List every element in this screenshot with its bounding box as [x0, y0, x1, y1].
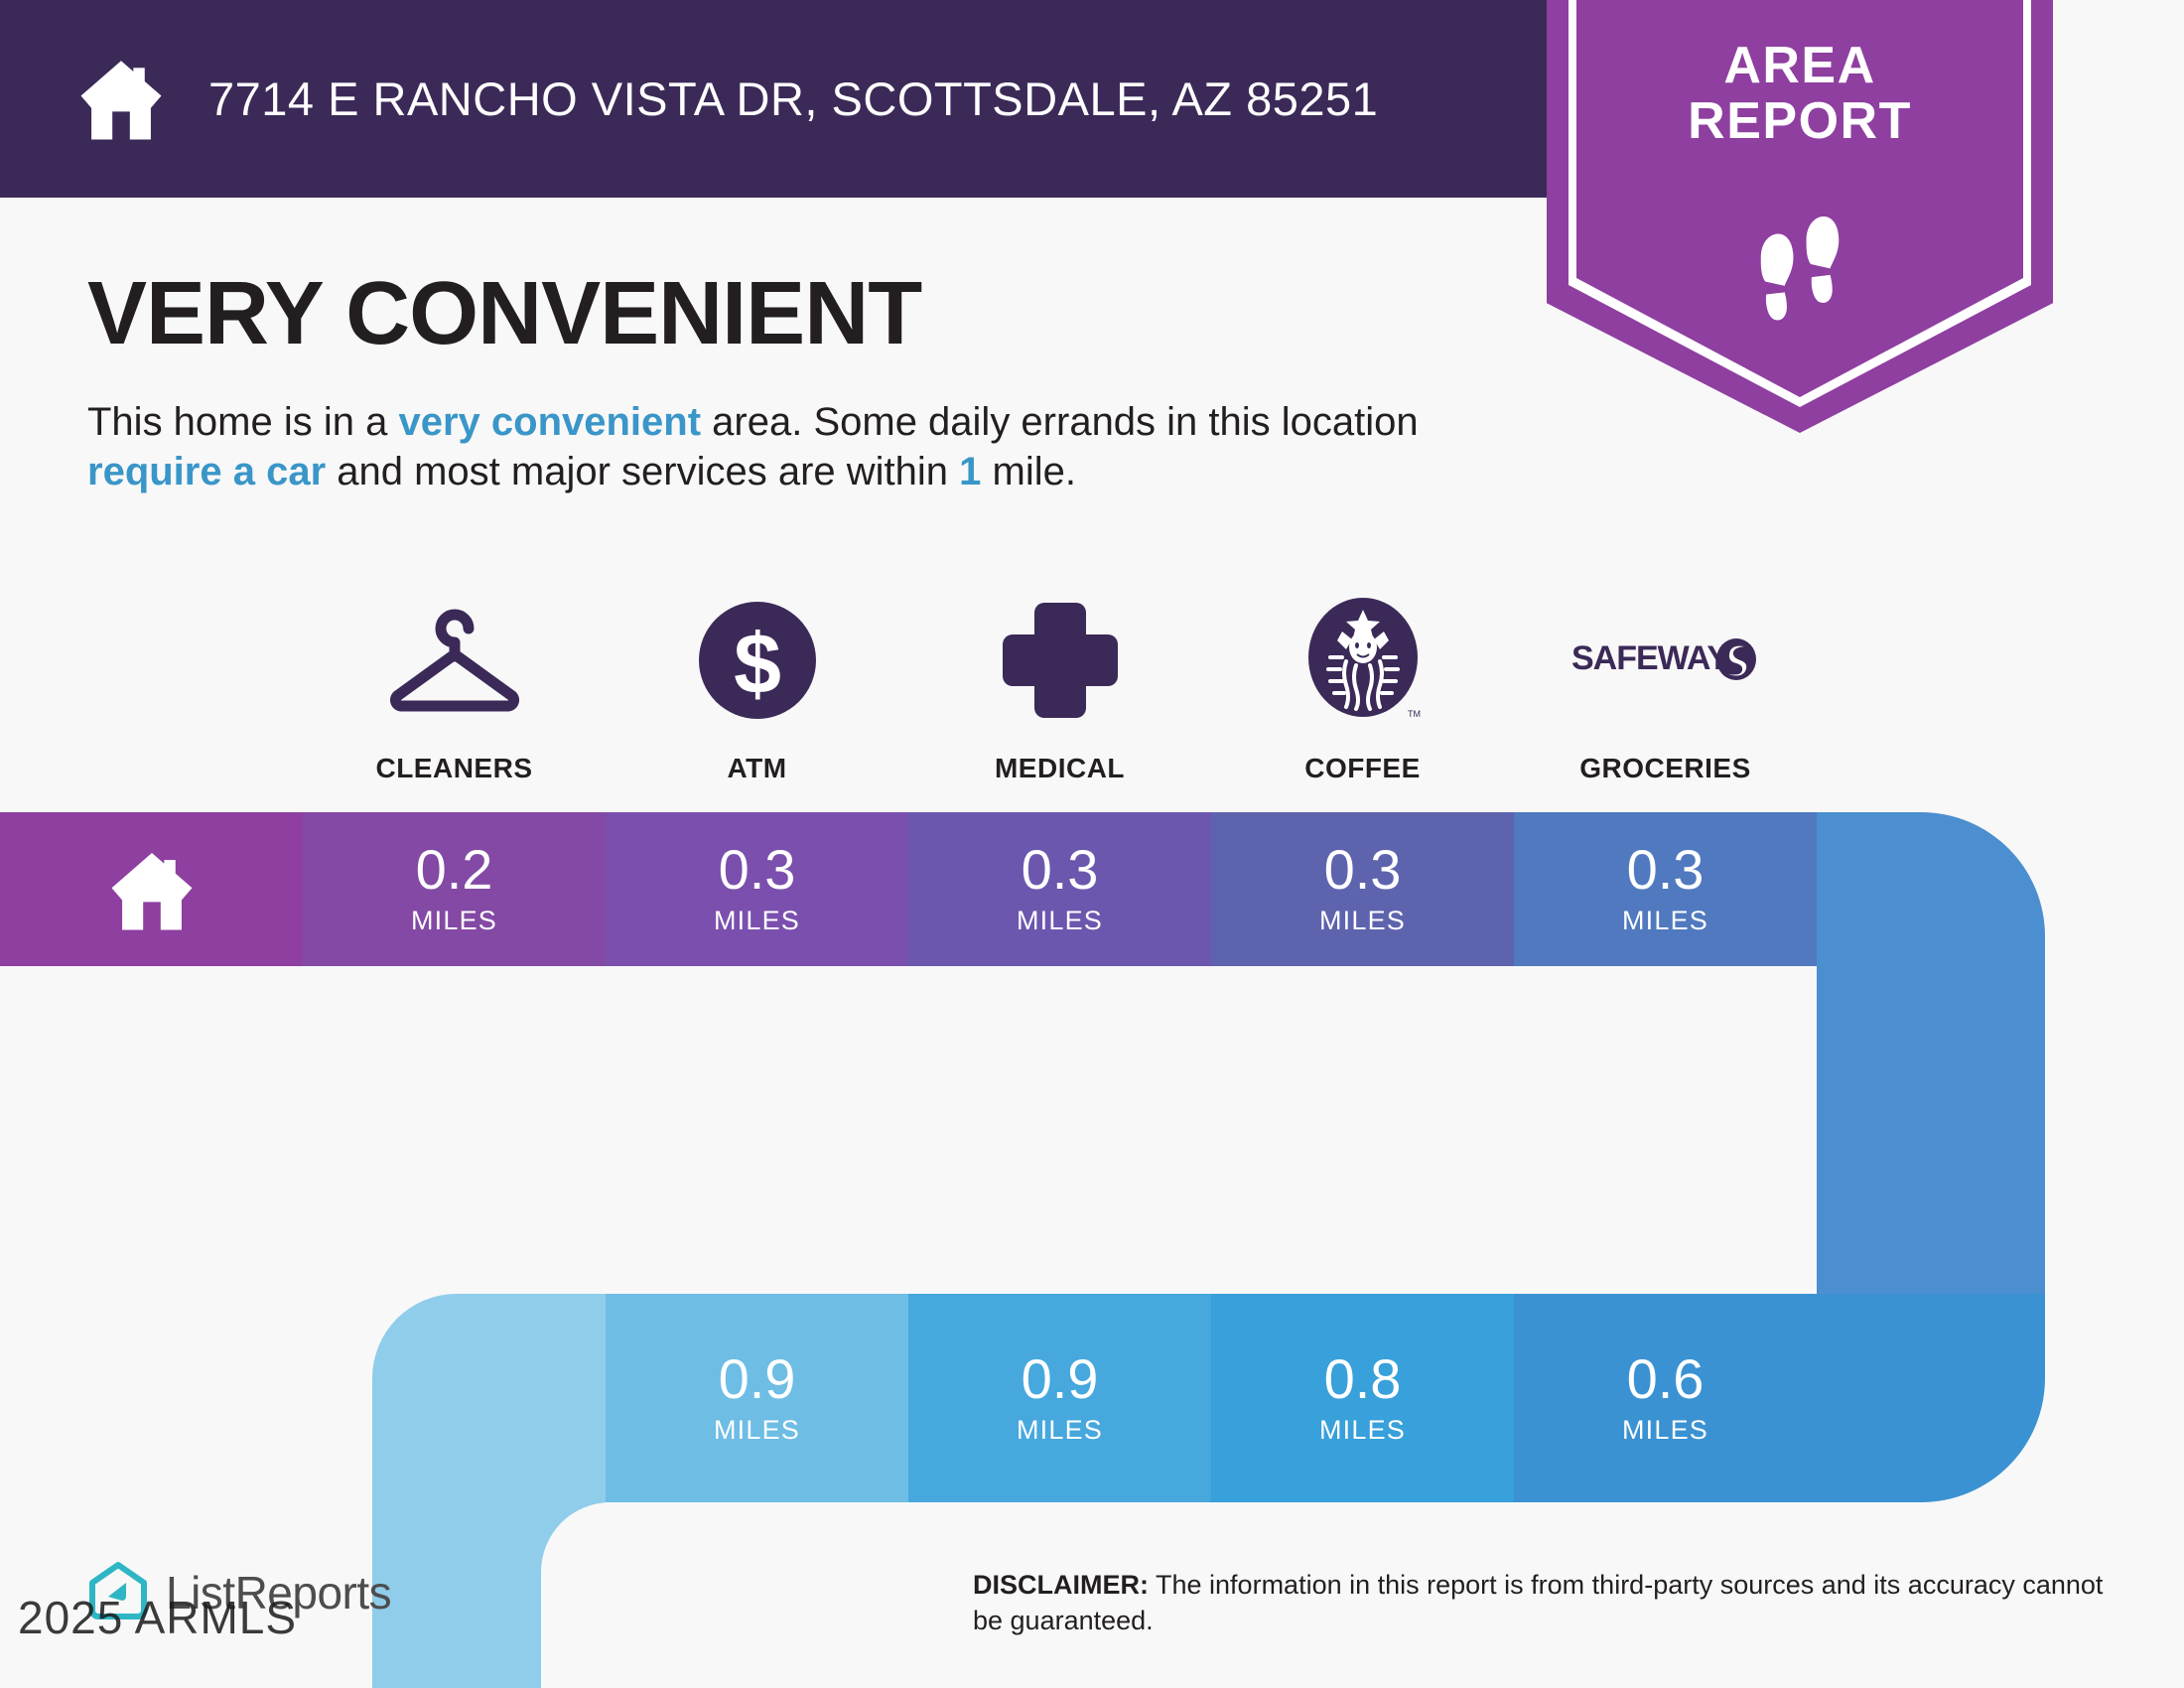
area-report-page: 7714 E RANCHO VISTA DR, SCOTTSDALE, AZ 8… [0, 0, 2184, 1688]
badge-line-2: REPORT [1547, 93, 2053, 149]
hanger-icon [385, 586, 524, 735]
distance-value: 0.3 [1022, 842, 1099, 898]
home-icon [77, 52, 165, 147]
distance-cell-atm: 0.3 MILES [606, 812, 908, 966]
safeway-logo-icon: SAFEWAY [1571, 586, 1760, 735]
distance-unit: MILES [1017, 1415, 1103, 1446]
category-cleaners: CLEANERS [303, 586, 606, 784]
starbucks-logo-icon: TM [1300, 586, 1426, 735]
disclaimer: DISCLAIMER: The information in this repo… [973, 1567, 2105, 1639]
distance-unit: MILES [1622, 906, 1708, 936]
svg-text:TM: TM [1408, 709, 1421, 719]
footprints-icon [1745, 216, 1854, 336]
category-groceries: SAFEWAY GROCERIES [1514, 586, 1817, 784]
header-bar: 7714 E RANCHO VISTA DR, SCOTTSDALE, AZ 8… [0, 0, 1547, 198]
svg-text:$: $ [734, 617, 781, 712]
category-atm: $ ATM [606, 586, 908, 784]
distance-cell-groceries: 0.3 MILES [1514, 812, 1817, 966]
distance-cell-pharmacy: 0.8 MILES [1211, 1294, 1514, 1502]
distance-value: 0.3 [1627, 842, 1705, 898]
summary-highlight-3: 1 [959, 450, 981, 493]
medical-cross-icon [999, 586, 1122, 735]
ribbon-inner-notch-right [298, 966, 1817, 1294]
ribbon-elbow-right [1817, 812, 2045, 966]
distance-unit: MILES [714, 1415, 800, 1446]
ribbon-left-cap-row2 [372, 1294, 606, 1502]
distance-unit: MILES [714, 906, 800, 936]
category-icon-row-1: CLEANERS $ ATM MEDICAL [0, 586, 2184, 784]
distance-unit: MILES [1622, 1415, 1708, 1446]
ribbon-elbow-right-lower [1817, 1294, 2045, 1502]
distance-value: 0.6 [1627, 1351, 1705, 1407]
badge-title: AREA REPORT [1547, 38, 2053, 149]
distance-cell-movie-theater: 0.9 MILES [606, 1294, 908, 1502]
distance-cell-cleaners: 0.2 MILES [303, 812, 606, 966]
distance-value: 0.3 [1324, 842, 1402, 898]
distance-unit: MILES [411, 906, 497, 936]
category-label: ATM [727, 753, 786, 784]
distance-value: 0.8 [1324, 1351, 1402, 1407]
category-label: CLEANERS [375, 753, 532, 784]
distance-cell-gym: 0.6 MILES [1514, 1294, 1817, 1502]
distance-ribbon: 0.2 MILES 0.3 MILES 0.3 MILES 0.3 MILES [0, 812, 2184, 1688]
category-label: COFFEE [1304, 753, 1421, 784]
dollar-circle-icon: $ [697, 586, 818, 735]
summary-sentence: This home is in a very convenient area. … [87, 397, 1547, 496]
summary-part-3: and most major services are within [326, 450, 959, 493]
category-label: MEDICAL [995, 753, 1125, 784]
distance-value: 0.9 [1022, 1351, 1099, 1407]
distance-cell-gas: 0.9 MILES [908, 1294, 1211, 1502]
summary-highlight-1: very convenient [398, 400, 701, 444]
distance-cell-medical: 0.3 MILES [908, 812, 1211, 966]
summary-part-2: area. Some daily errands in this locatio… [701, 400, 1419, 444]
distance-unit: MILES [1319, 906, 1406, 936]
distance-value: 0.9 [719, 1351, 796, 1407]
summary-part-1: This home is in a [87, 400, 398, 444]
distance-cell-coffee: 0.3 MILES [1211, 812, 1514, 966]
page-title: VERY CONVENIENT [87, 263, 921, 365]
distance-unit: MILES [1319, 1415, 1406, 1446]
svg-text:SAFEWAY: SAFEWAY [1571, 639, 1729, 677]
distance-value: 0.2 [416, 842, 493, 898]
home-icon [107, 846, 197, 933]
category-label: GROCERIES [1579, 753, 1751, 784]
area-report-badge: AREA REPORT [1547, 0, 2053, 433]
property-address: 7714 E RANCHO VISTA DR, SCOTTSDALE, AZ 8… [208, 71, 1378, 126]
category-medical: MEDICAL [908, 586, 1211, 784]
summary-part-4: mile. [981, 450, 1076, 493]
mls-watermark: 2025 ARMLS [18, 1591, 297, 1644]
distance-unit: MILES [1017, 906, 1103, 936]
category-coffee: TM COFFEE [1211, 586, 1514, 784]
ribbon-vertical-right [1817, 966, 2045, 1294]
badge-line-1: AREA [1547, 38, 2053, 93]
distance-value: 0.3 [719, 842, 796, 898]
home-marker-cell [0, 812, 303, 966]
disclaimer-label: DISCLAIMER: [973, 1570, 1149, 1600]
summary-highlight-2: require a car [87, 450, 326, 493]
